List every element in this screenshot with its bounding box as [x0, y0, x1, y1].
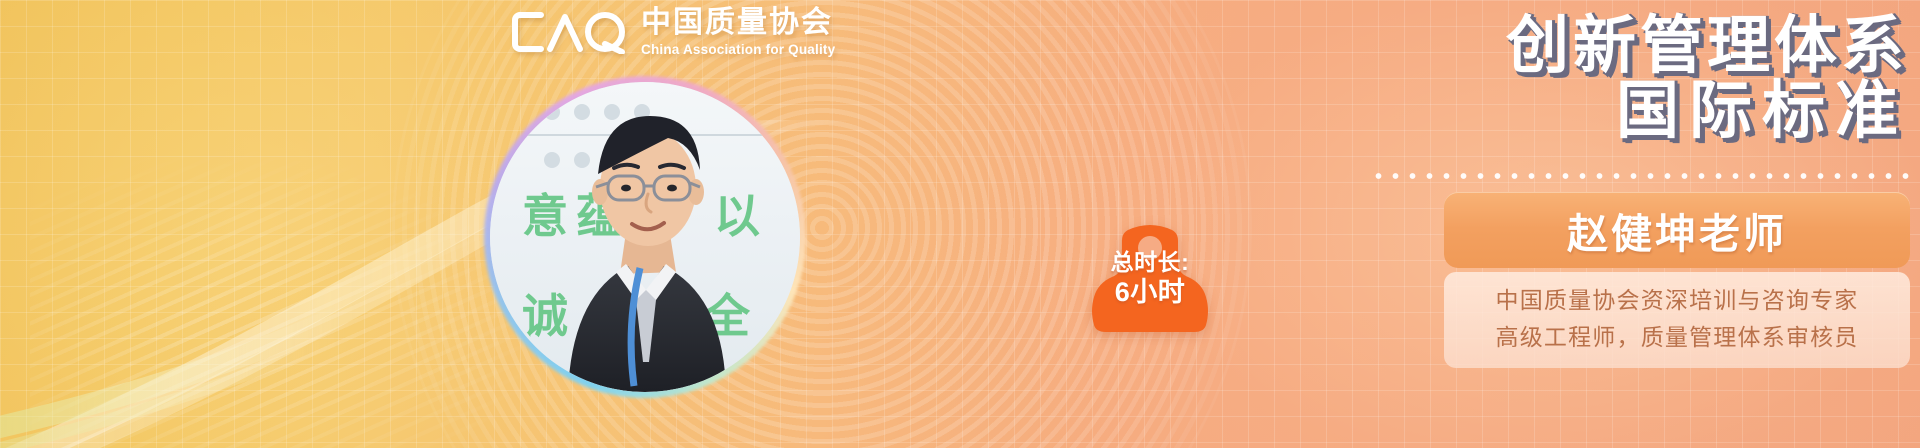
course-title-line-1: 创新管理体系: [1506, 14, 1908, 79]
dotted-divider: [1370, 172, 1910, 180]
course-title: 创新管理体系 国际标准: [1506, 14, 1908, 144]
course-info-panel: 创新管理体系 国际标准 赵健坤老师 中国质量协会资深培训与咨询专家 高级工程师，…: [1010, 0, 1920, 448]
instructor-name-plate: 赵健坤老师: [1444, 192, 1910, 268]
caq-logo-english-name: China Association for Quality: [641, 43, 835, 57]
credential-line-2: 高级工程师，质量管理体系审核员: [1496, 323, 1859, 352]
caq-logo-icon: [510, 10, 628, 54]
caq-logo-chinese-name: 中国质量协会: [641, 8, 835, 38]
caq-logo-text: 中国质量协会 China Association for Quality: [641, 8, 835, 57]
svg-text:意: 意: [522, 189, 568, 243]
instructor-name: 赵健坤老师: [1567, 200, 1787, 260]
svg-text:诚: 诚: [522, 289, 568, 343]
credential-line-1: 中国质量协会资深培训与咨询专家: [1496, 286, 1859, 315]
portrait-photo: 意 蕴 日 以 诚 全: [490, 82, 800, 392]
instructor-credentials: 中国质量协会资深培训与咨询专家 高级工程师，质量管理体系审核员: [1444, 272, 1910, 368]
instructor-portrait: 意 蕴 日 以 诚 全: [490, 82, 800, 392]
background-hatch-texture: [30, 150, 550, 448]
course-title-line-2: 国际标准: [1506, 79, 1908, 144]
caq-logo: 中国质量协会 China Association for Quality: [510, 8, 835, 57]
svg-text:以: 以: [714, 189, 760, 243]
course-promo-banner: 中国质量协会 China Association for Quality: [0, 0, 1920, 448]
